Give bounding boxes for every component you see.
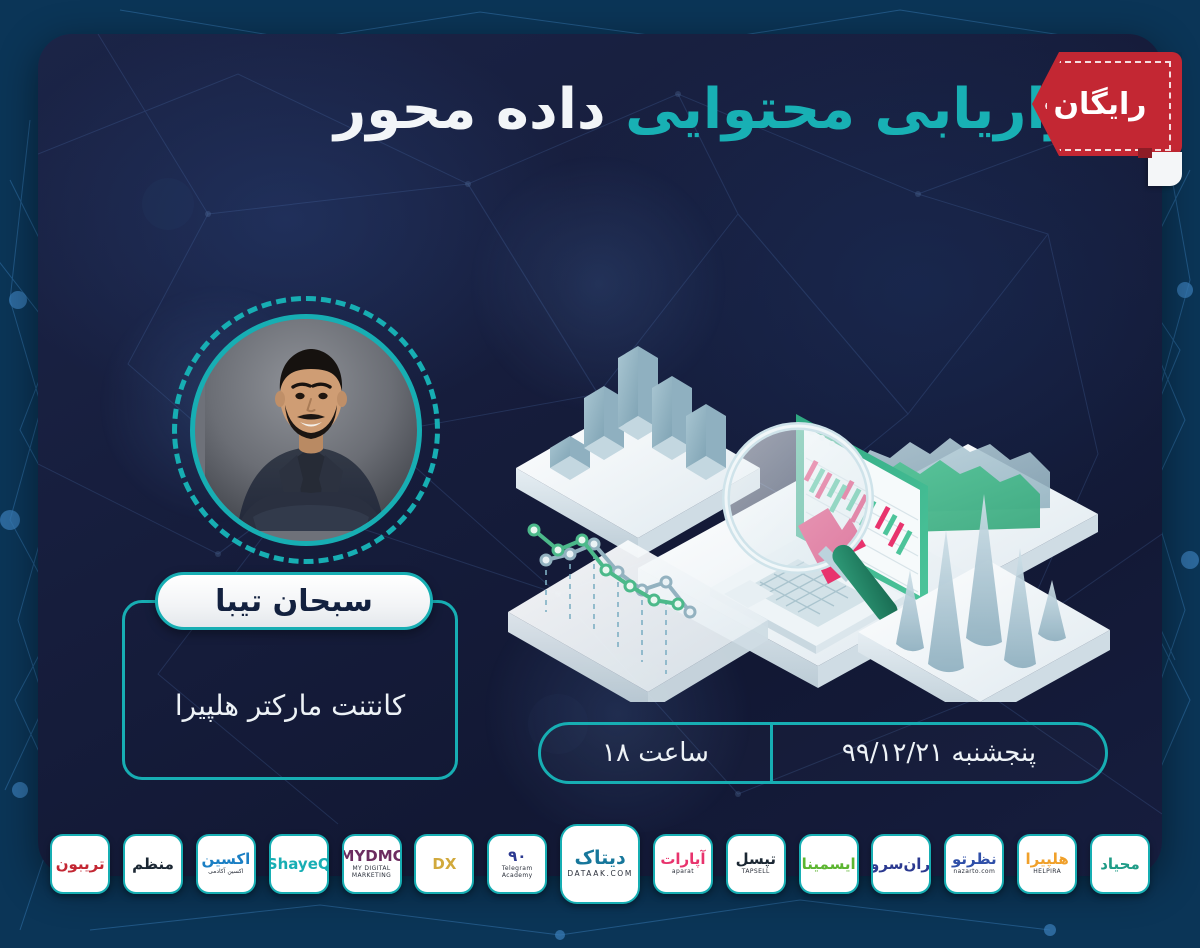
- sponsor-logo-mark: نظرتو: [952, 852, 997, 867]
- speaker-role: کانتنت مارکتر هلپیرا: [175, 689, 405, 722]
- sponsor-logo-mark: دیتاک: [574, 849, 625, 868]
- sponsor-logo-tile[interactable]: منظم: [123, 834, 183, 894]
- headline-white: داده محور: [334, 77, 606, 142]
- sponsor-logo-mark: ۹۰: [508, 849, 526, 864]
- sponsor-logo-sub: HELPIRA: [1033, 869, 1061, 876]
- sponsor-logo-mark: محیاد: [1100, 857, 1140, 872]
- sponsor-logo-tile[interactable]: نظرتوnazarto.com: [944, 834, 1004, 894]
- sponsor-logo-mark: اکسین: [202, 852, 251, 867]
- sponsor-logo-tile[interactable]: دیتاکDATAAK.COM: [560, 824, 640, 904]
- sponsor-logo-tile[interactable]: ۹۰Telegram Academy: [487, 834, 547, 894]
- avatar: [172, 292, 440, 570]
- sponsor-logo-mark: ایسمینا: [802, 857, 856, 872]
- free-badge: رایگان: [1032, 52, 1182, 172]
- sponsor-logo-tile[interactable]: تریبون: [50, 834, 110, 894]
- sponsor-logo-mark: ایران‌سرور: [871, 857, 931, 872]
- sponsor-logo-mark: DX: [432, 857, 456, 872]
- page-title: بازاریابی محتوایی داده محور: [260, 74, 1120, 146]
- sponsor-logo-mark: آپارات: [660, 852, 705, 867]
- sponsor-logo-sub: اکسین آکادمی: [208, 869, 243, 876]
- sponsor-logo-mark: MYDMC: [342, 849, 402, 864]
- event-time: ساعت ۱۸: [541, 725, 770, 781]
- badge-fold: [1148, 152, 1182, 186]
- sponsor-logo-tile[interactable]: هلپیراHELPIRA: [1017, 834, 1077, 894]
- sponsor-logo-sub: aparat: [672, 869, 694, 876]
- sponsor-logo-sub: MY DIGITAL MARKETING: [344, 866, 400, 879]
- speaker-name-pill: سبحان تیبا: [155, 572, 433, 630]
- avatar-ring: [190, 314, 422, 546]
- data-analytics-illustration: [498, 282, 1118, 702]
- sponsor-logo-tile[interactable]: MYDMCMY DIGITAL MARKETING: [342, 834, 402, 894]
- sponsor-logo-mark: تپسل: [736, 852, 776, 867]
- sponsor-logo-tile[interactable]: ایران‌سرور: [871, 834, 931, 894]
- sponsor-logo-sub: TAPSELL: [742, 869, 770, 876]
- sponsor-logo-sub: nazarto.com: [953, 869, 995, 876]
- badge-label: رایگان: [1032, 52, 1182, 156]
- sponsor-logo-tile[interactable]: DX: [414, 834, 474, 894]
- speaker-photo: [195, 319, 417, 541]
- sponsor-logo-tile[interactable]: ShayeQ: [269, 834, 329, 894]
- sponsor-logo-mark: هلپیرا: [1026, 852, 1069, 867]
- sponsor-logo-tile[interactable]: تپسلTAPSELL: [726, 834, 786, 894]
- sponsor-logo-mark: تریبون: [56, 857, 105, 872]
- sponsor-logo-tile[interactable]: اکسیناکسین آکادمی: [196, 834, 256, 894]
- sponsor-logo-tile[interactable]: ایسمینا: [799, 834, 859, 894]
- sponsor-logo-mark: ShayeQ: [269, 857, 329, 872]
- sponsor-logo-tile[interactable]: آپاراتaparat: [653, 834, 713, 894]
- sponsor-logo-sub: DATAAK.COM: [567, 870, 633, 878]
- banner-stage: بازاریابی محتوایی داده محور رایگان: [0, 0, 1200, 948]
- sponsor-logo-mark: منظم: [132, 857, 174, 872]
- speaker-name: سبحان تیبا: [215, 584, 373, 619]
- sponsor-logo-sub: Telegram Academy: [489, 866, 545, 879]
- event-schedule-bar: پنجشنبه ۹۹/۱۲/۲۱ ساعت ۱۸: [538, 722, 1108, 784]
- sponsor-logo-tile[interactable]: محیاد: [1090, 834, 1150, 894]
- sponsor-logo-strip: محیادهلپیراHELPIRAنظرتوnazarto.comایران‌…: [46, 822, 1154, 906]
- event-date: پنجشنبه ۹۹/۱۲/۲۱: [770, 725, 1105, 781]
